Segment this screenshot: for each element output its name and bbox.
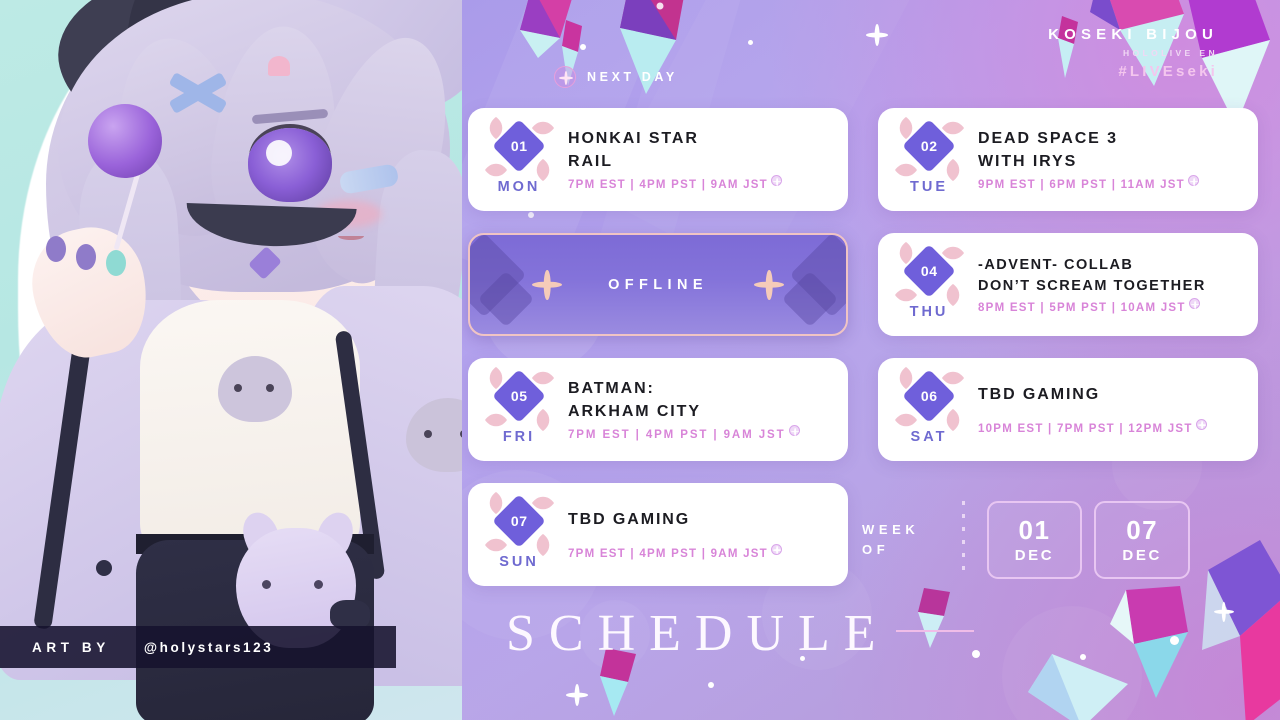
- stream-title-line2: WITH IRYS: [978, 151, 1244, 174]
- day-of-week: TUE: [910, 179, 948, 195]
- schedule-card-tue[interactable]: 02 TUE DEAD SPACE 3 WITH IRYS 9PM EST | …: [878, 108, 1258, 211]
- week-of-label: WEEK OF: [862, 520, 958, 560]
- petal-icon: [942, 409, 965, 432]
- stream-title-line1: BATMAN:: [568, 378, 834, 401]
- date-diamond-badge: 02: [899, 124, 959, 176]
- card-body: HONKAI STAR RAIL 7PM EST | 4PM PST | 9AM…: [556, 128, 848, 191]
- date-number: 06: [921, 388, 938, 404]
- date-diamond-badge: 01: [489, 124, 549, 176]
- next-day-marker-icon: [771, 175, 782, 186]
- date-number: 04: [921, 263, 938, 279]
- jacket-dot: [96, 560, 112, 576]
- petal-icon: [895, 159, 918, 182]
- schedule-card-mon[interactable]: 01 MON HONKAI STAR RAIL 7PM EST | 4PM PS…: [468, 108, 848, 211]
- petal-icon: [485, 159, 508, 182]
- card-body: -ADVENT- COLLAB DON’T SCREAM TOGETHER 8P…: [966, 255, 1258, 314]
- week-start-month: DEC: [1015, 547, 1054, 564]
- stream-times: 10PM EST | 7PM PST | 12PM JST: [978, 423, 1244, 435]
- offline-label: OFFLINE: [608, 277, 708, 293]
- schedule-card-offline[interactable]: OFFLINE: [468, 233, 848, 336]
- art-credit-handle[interactable]: @holystars123: [144, 640, 274, 655]
- character-illustration: [0, 0, 470, 720]
- sparkle-dot: [708, 682, 714, 688]
- eye: [248, 128, 332, 202]
- stream-times-text: 7PM EST | 4PM PST | 9AM JST: [568, 429, 786, 441]
- sparkle-icon: [566, 684, 588, 706]
- stream-times-text: 7PM EST | 4PM PST | 9AM JST: [568, 179, 768, 191]
- stream-title-line1: HONKAI STAR: [568, 128, 834, 151]
- petal-icon: [532, 534, 555, 557]
- week-end-month: DEC: [1122, 547, 1161, 564]
- stream-times-text: 8PM EST | 5PM PST | 10AM JST: [978, 302, 1186, 314]
- date-diamond-badge: 05: [489, 374, 549, 426]
- date-badge-column: 06 SAT: [892, 374, 966, 445]
- fingernail: [106, 250, 126, 276]
- petal-icon: [942, 159, 965, 182]
- page-title: SCHEDULE: [506, 608, 890, 660]
- next-day-marker-icon: [789, 425, 800, 436]
- stream-title-line2: DON’T SCREAM TOGETHER: [978, 276, 1244, 297]
- date-diamond-badge: 06: [899, 374, 959, 426]
- next-day-marker-icon: [1196, 419, 1207, 430]
- week-start-date-box: 01 DEC: [987, 501, 1083, 579]
- agency-name: HOLOLIVE EN: [1048, 48, 1218, 58]
- next-day-marker-icon: [1188, 175, 1199, 186]
- offline-content: OFFLINE: [532, 270, 784, 300]
- stream-times: 7PM EST | 4PM PST | 9AM JST: [568, 429, 834, 441]
- stream-times: 8PM EST | 5PM PST | 10AM JST: [978, 302, 1244, 314]
- card-body: BATMAN: ARKHAM CITY 7PM EST | 4PM PST | …: [556, 378, 848, 441]
- day-of-week: FRI: [503, 429, 535, 445]
- stream-title-line1: TBD GAMING: [978, 384, 1244, 407]
- card-body: TBD GAMING 10PM EST | 7PM PST | 12PM JST: [966, 384, 1258, 435]
- mouth: [338, 232, 364, 240]
- stream-times-text: 9PM EST | 6PM PST | 11AM JST: [978, 179, 1185, 191]
- week-end-date-box: 07 DEC: [1094, 501, 1190, 579]
- date-badge-column: 07 SUN: [482, 499, 556, 570]
- petal-icon: [532, 159, 555, 182]
- schedule-card-fri[interactable]: 05 FRI BATMAN: ARKHAM CITY 7PM EST | 4PM…: [468, 358, 848, 461]
- sparkle-dot: [748, 40, 753, 45]
- next-day-marker-icon: [771, 544, 782, 555]
- date-number: 02: [921, 138, 938, 154]
- fingernail: [46, 236, 66, 262]
- date-number: 07: [511, 513, 528, 529]
- brand-block: KOSEKI BIJOU HOLOLIVE EN #LIVEseki: [1048, 26, 1218, 80]
- top-mascot-print: [218, 356, 292, 422]
- sparkle-icon: [1214, 602, 1234, 622]
- talent-name: KOSEKI BIJOU: [1048, 26, 1218, 43]
- card-body: DEAD SPACE 3 WITH IRYS 9PM EST | 6PM PST…: [966, 128, 1258, 191]
- art-credit-label: ART BY: [32, 640, 110, 655]
- sparkle-icon: [554, 66, 576, 88]
- date-number: 01: [511, 138, 528, 154]
- petal-icon: [532, 409, 555, 432]
- sparkle-icon: [754, 270, 784, 300]
- petal-icon: [485, 534, 508, 557]
- petal-icon: [895, 409, 918, 432]
- date-badge-column: 02 TUE: [892, 124, 966, 195]
- sparkle-dot: [580, 44, 586, 50]
- week-start-day: 01: [1019, 517, 1051, 543]
- sparkle-icon: [866, 24, 888, 46]
- stream-title-line1: -ADVENT- COLLAB: [978, 255, 1244, 276]
- date-badge-column: 01 MON: [482, 124, 556, 195]
- artwork-panel: [0, 0, 470, 720]
- stream-title-line2: RAIL: [568, 151, 834, 174]
- schedule-graphic: KOSEKI BIJOU HOLOLIVE EN #LIVEseki NEXT …: [0, 0, 1280, 720]
- date-diamond-badge: 04: [899, 249, 959, 301]
- lollipop: [88, 104, 162, 178]
- week-of-label-line2: OF: [862, 540, 958, 560]
- stream-times-text: 10PM EST | 7PM PST | 12PM JST: [978, 423, 1193, 435]
- crystal-gem: [1022, 640, 1142, 720]
- schedule-title-block: SCHEDULE: [506, 608, 974, 660]
- sparkle-dot: [1170, 636, 1179, 645]
- sparkle-dot: [1080, 654, 1086, 660]
- next-day-marker-icon: [1189, 298, 1200, 309]
- stream-title-line2: ARKHAM CITY: [568, 401, 834, 424]
- stream-times-text: 7PM EST | 4PM PST | 9AM JST: [568, 548, 768, 560]
- stream-hashtag: #LIVEseki: [1048, 63, 1218, 80]
- schedule-card-sun[interactable]: 07 SUN TBD GAMING 7PM EST | 4PM PST | 9A…: [468, 483, 848, 586]
- schedule-card-sat[interactable]: 06 SAT TBD GAMING 10PM EST | 7PM PST | 1…: [878, 358, 1258, 461]
- title-rule: [896, 630, 974, 633]
- petal-icon: [895, 284, 918, 307]
- stream-times: 9PM EST | 6PM PST | 11AM JST: [978, 179, 1244, 191]
- sparkle-icon: [532, 270, 562, 300]
- next-day-legend: NEXT DAY: [554, 66, 678, 88]
- week-of-label-line1: WEEK: [862, 520, 958, 540]
- next-day-legend-label: NEXT DAY: [587, 70, 678, 84]
- week-end-day: 07: [1126, 517, 1158, 543]
- stream-title-line1: DEAD SPACE 3: [978, 128, 1244, 151]
- dotted-divider: [962, 501, 965, 579]
- day-of-week: MON: [498, 179, 541, 195]
- stream-times: 7PM EST | 4PM PST | 9AM JST: [568, 179, 834, 191]
- day-of-week: THU: [910, 304, 949, 320]
- date-number: 05: [511, 388, 528, 404]
- day-of-week: SAT: [911, 429, 948, 445]
- card-body: TBD GAMING 7PM EST | 4PM PST | 9AM JST: [556, 509, 848, 560]
- petal-icon: [942, 284, 965, 307]
- day-of-week: SUN: [499, 554, 539, 570]
- petal-icon: [485, 409, 508, 432]
- heart-hairpin: [268, 56, 290, 76]
- date-badge-column: 04 THU: [892, 249, 966, 320]
- stream-times: 7PM EST | 4PM PST | 9AM JST: [568, 548, 834, 560]
- art-credit-bar: ART BY @holystars123: [0, 626, 396, 668]
- date-badge-column: 05 FRI: [482, 374, 556, 445]
- date-diamond-badge: 07: [489, 499, 549, 551]
- stream-title-line1: TBD GAMING: [568, 509, 834, 532]
- fingernail: [76, 244, 96, 270]
- schedule-card-thu[interactable]: 04 THU -ADVENT- COLLAB DON’T SCREAM TOGE…: [878, 233, 1258, 336]
- week-of-block: WEEK OF 01 DEC 07 DEC: [862, 494, 1202, 586]
